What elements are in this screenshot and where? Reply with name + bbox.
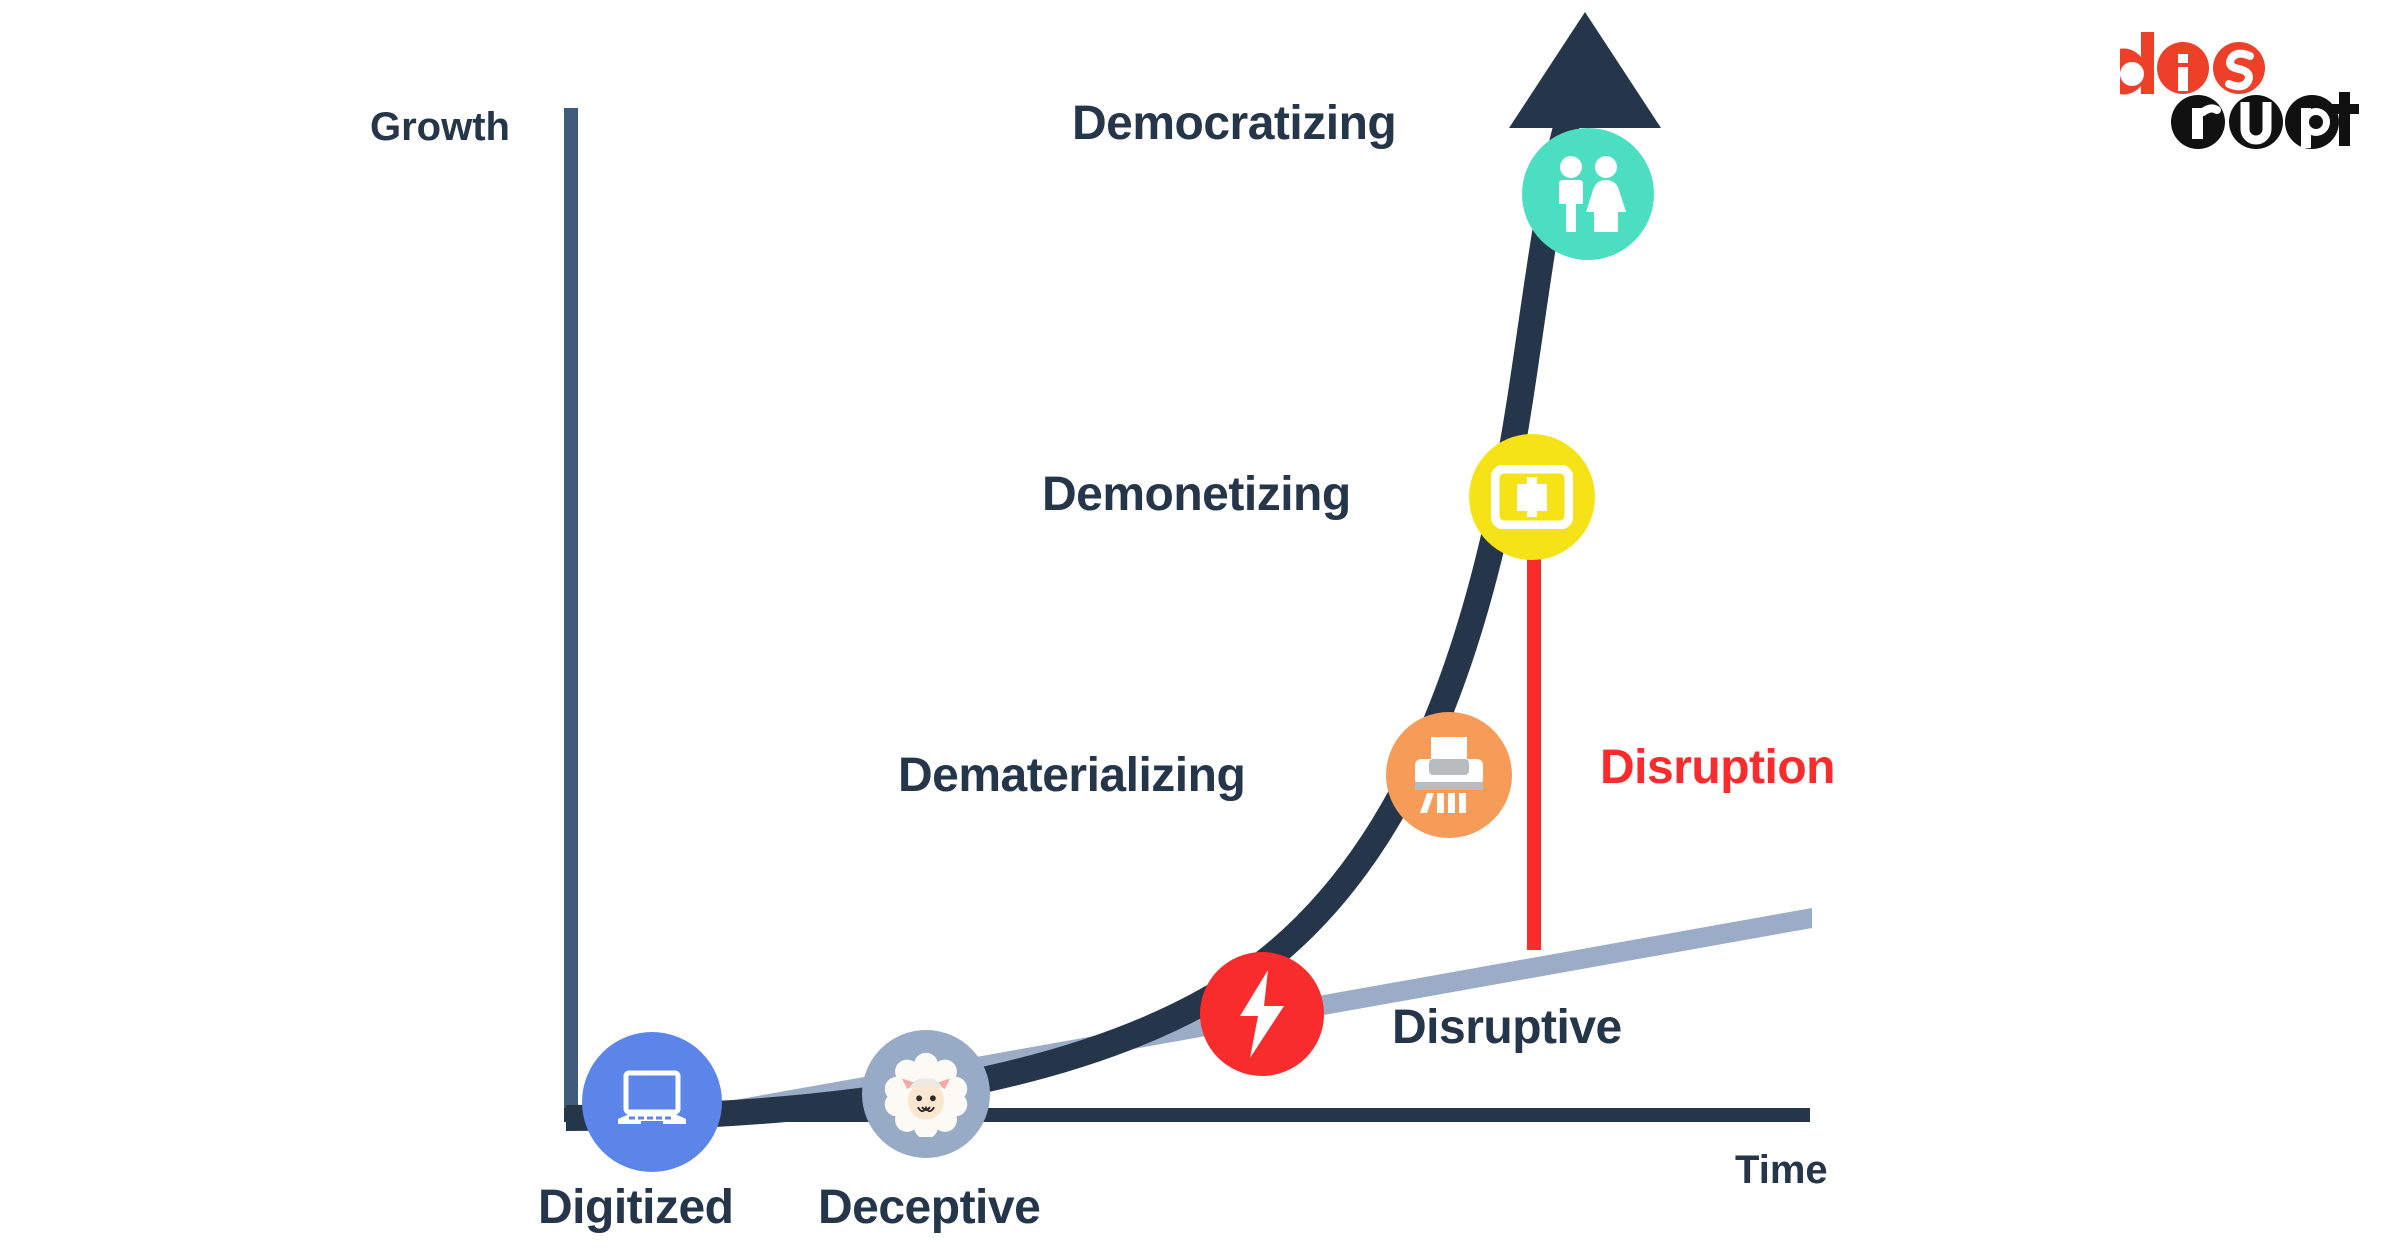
stage-label-dematerializing: Dematerializing: [898, 748, 1245, 803]
stage-node-disruptive[interactable]: [1200, 952, 1324, 1076]
disrupt-logo-svg: [2120, 28, 2360, 158]
stage-node-deceptive[interactable]: [862, 1030, 990, 1158]
stage-node-demonetizing[interactable]: [1469, 434, 1595, 560]
exponential-growth-curve: [566, 96, 1576, 1118]
paper-shredder-icon: [1407, 735, 1491, 815]
stage-node-digitized[interactable]: [582, 1032, 722, 1172]
stage-label-democratizing: Democratizing: [1072, 96, 1396, 151]
two-people-icon: [1545, 154, 1631, 234]
disruption-annotation: Disruption: [1600, 740, 1835, 795]
sheep-icon: [883, 1051, 969, 1137]
lightning-bolt-icon: [1231, 968, 1293, 1060]
laptop-icon: [609, 1067, 695, 1137]
stage-label-deceptive: Deceptive: [818, 1180, 1040, 1235]
logo-letters-top: [2120, 32, 2265, 95]
logo-letters-bottom: [2171, 92, 2359, 149]
stage-label-digitized: Digitized: [538, 1180, 734, 1235]
stage-node-democratizing[interactable]: [1522, 128, 1654, 260]
stage-label-demonetizing: Demonetizing: [1042, 467, 1351, 522]
x-axis-label: Time: [1735, 1148, 1828, 1193]
stage-label-disruptive: Disruptive: [1392, 1000, 1622, 1055]
disruption-vertical-line: [1527, 556, 1541, 950]
up-arrow-icon: [1509, 12, 1661, 128]
stage-node-dematerializing[interactable]: [1386, 712, 1512, 838]
y-axis-label: Growth: [370, 105, 510, 150]
disrupt-logo[interactable]: [2120, 28, 2360, 158]
banknote-dollar-icon: [1491, 465, 1573, 529]
y-axis: [564, 108, 578, 1122]
diagram-canvas: Growth Time Digitized: [0, 0, 2400, 1260]
growth-chart-svg: [0, 0, 2400, 1260]
